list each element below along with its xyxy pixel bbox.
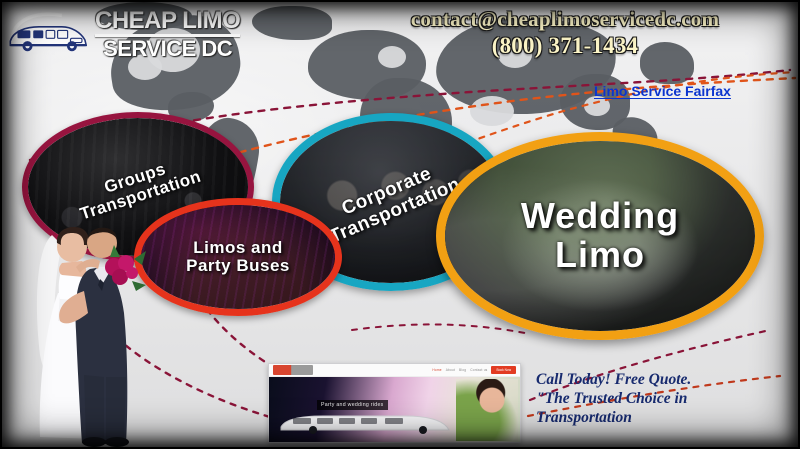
map-landmass (252, 6, 332, 40)
brand-logo[interactable]: CHEAP LIMO SERVICE DC (6, 3, 244, 65)
hero-limousine-icon (277, 409, 453, 434)
service-oval-limos-and-party-buses[interactable]: Limos and Party Buses (134, 198, 342, 316)
bride-and-groom-photo (14, 205, 150, 449)
thumbnail-logo (273, 365, 313, 375)
service-label-wedding: Wedding Limo (521, 197, 679, 275)
thumbnail-book-now-button: Book Now (491, 366, 516, 374)
contact-email[interactable]: contact@cheaplimoservicedc.com (340, 6, 790, 32)
hero-bride-photo (456, 379, 518, 441)
brand-logo-line1: CHEAP LIMO (95, 9, 240, 33)
thumbnail-nav-item-home: Home (432, 368, 441, 372)
thumbnail-nav-item-blog: Blog (459, 368, 466, 372)
map-water (584, 96, 610, 116)
website-screenshot-thumbnail[interactable]: Home About Blog Contact us Book Now Part… (268, 363, 521, 443)
thumbnail-nav-item-contact: Contact us (470, 368, 487, 372)
brand-logo-line2: SERVICE DC (103, 38, 232, 60)
tagline-text: Call Today! Free Quote. "The Trusted Cho… (536, 370, 786, 427)
promo-banner: CHEAP LIMO SERVICE DC contact@cheaplimos… (0, 0, 800, 449)
contact-phone[interactable]: (800) 371-1434 (340, 32, 790, 60)
brand-logo-text: CHEAP LIMO SERVICE DC (95, 9, 240, 60)
contact-block: contact@cheaplimoservicedc.com (800) 371… (340, 6, 790, 60)
limo-service-fairfax-link[interactable]: Limo Service Fairfax (594, 83, 731, 99)
hero-caption: Party and wedding rides (317, 400, 388, 410)
thumbnail-hero: Party and wedding rides (269, 377, 520, 443)
thumbnail-nav-bar: Home About Blog Contact us Book Now (269, 364, 520, 377)
limousine-icon (6, 8, 92, 60)
service-oval-wedding-limo[interactable]: Wedding Limo (436, 132, 764, 340)
thumbnail-nav-item-about: About (446, 368, 455, 372)
service-label-limos: Limos and Party Buses (186, 239, 290, 276)
